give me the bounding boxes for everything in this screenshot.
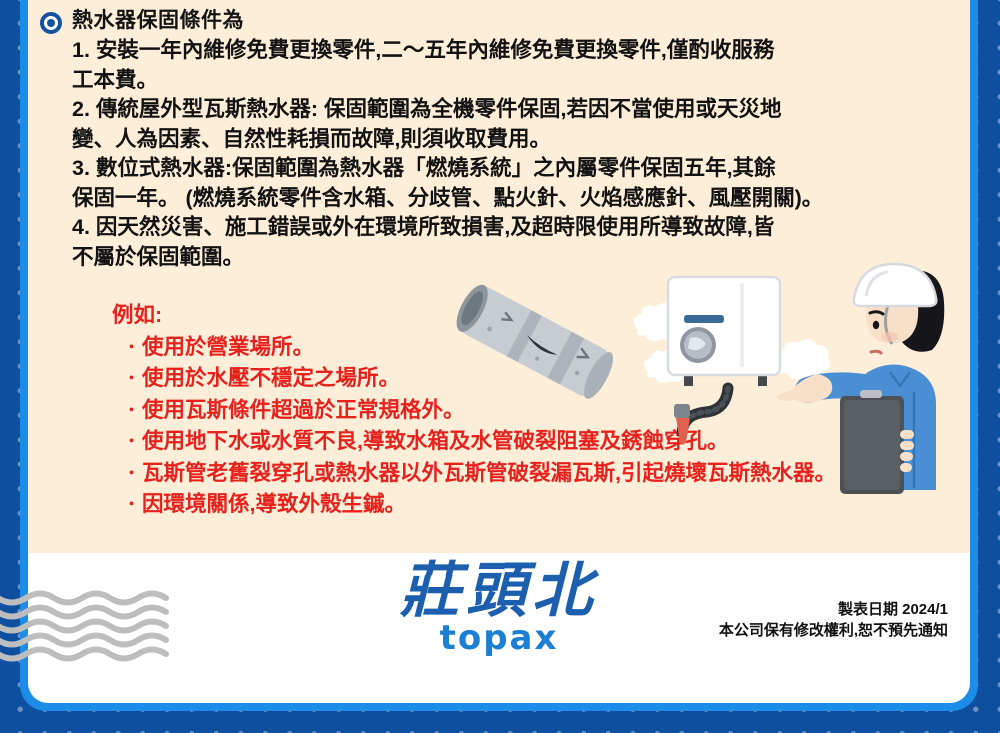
bullet-icon: ・ — [124, 339, 142, 356]
term-line: 2. 傳統屋外型瓦斯熱水器: 保固範圍為全機零件保固,若因不當使用或天災地 — [72, 95, 970, 125]
list-item: ・因環境關係,導致外殼生鏚。 — [112, 489, 970, 521]
bullseye-icon — [40, 12, 62, 34]
warranty-terms-list: 1. 安裝一年內維修免費更換零件,二～五年內維修免費更換零件,僅酌收服務 工本費… — [72, 36, 970, 272]
list-item: ・使用瓦斯條件超過於正常規格外。 — [112, 395, 970, 427]
revision-notice: 製表日期 2024/1 本公司保有修改權利,恕不預先通知 — [719, 599, 948, 641]
list-item: ・瓦斯管老舊裂穿孔或熱水器以外瓦斯管破裂漏瓦斯,引起燒壞瓦斯熱水器。 — [112, 458, 970, 490]
term-line: 不屬於保固範圍。 — [72, 243, 970, 273]
bullet-icon: ・ — [124, 402, 142, 419]
term-line: 4. 因天然災害、施工錯誤或外在環境所致損害,及超時限使用所導致故障,皆 — [72, 213, 970, 243]
content-card: 熱水器保固條件為 1. 安裝一年內維修免費更換零件,二～五年內維修免費更換零件,… — [28, 0, 970, 703]
list-item-label: 因環境關係,導致外殼生鏚。 — [142, 492, 406, 516]
term-line: 變、人為因素、自然性耗損而故障,則須收取費用。 — [72, 125, 970, 155]
brand-logo: 莊頭北 topax — [400, 561, 598, 658]
term-line: 1. 安裝一年內維修免費更換零件,二～五年內維修免費更換零件,僅酌收服務 — [72, 36, 970, 66]
notice-date: 製表日期 2024/1 — [719, 599, 948, 620]
term-line: 工本費。 — [72, 66, 970, 96]
brand-logo-chinese: 莊頭北 — [400, 561, 598, 622]
list-item-label: 使用地下水或水質不良,導致水箱及水管破裂阻塞及銹蝕穿孔。 — [142, 429, 728, 453]
list-item: ・使用於營業場所。 — [112, 332, 970, 364]
term-line: 3. 數位式熱水器:保固範圍為熱水器「燃燒系統」之內屬零件保固五年,其餘 — [72, 154, 970, 184]
terms-content: 熱水器保固條件為 1. 安裝一年內維修免費更換零件,二～五年內維修免費更換零件,… — [28, 0, 970, 553]
footer: 莊頭北 topax 製表日期 2024/1 本公司保有修改權利,恕不預先通知 — [28, 553, 970, 703]
list-item: ・使用地下水或水質不良,導致水箱及水管破裂阻塞及銹蝕穿孔。 — [112, 426, 970, 458]
bullet-icon: ・ — [124, 370, 142, 387]
brand-logo-english: topax — [400, 618, 598, 658]
header-row: 熱水器保固條件為 — [40, 8, 244, 34]
bullet-icon: ・ — [124, 496, 142, 513]
notice-disclaimer: 本公司保有修改權利,恕不預先通知 — [719, 620, 948, 641]
bullet-icon: ・ — [124, 465, 142, 482]
examples-title: 例如: — [112, 300, 970, 331]
examples-list: 例如: ・使用於營業場所。 ・使用於水壓不穩定之場所。 ・使用瓦斯條件超過於正常… — [112, 300, 970, 521]
list-item-label: 瓦斯管老舊裂穿孔或熱水器以外瓦斯管破裂漏瓦斯,引起燒壞瓦斯熱水器。 — [142, 461, 836, 485]
list-item-label: 使用於水壓不穩定之場所。 — [142, 366, 400, 390]
list-item: ・使用於水壓不穩定之場所。 — [112, 363, 970, 395]
term-line: 保固一年。 (燃燒系統零件含水箱、分歧管、點火針、火焰感應針、風壓開關)。 — [72, 184, 970, 214]
list-item-label: 使用瓦斯條件超過於正常規格外。 — [142, 398, 465, 422]
bullet-icon: ・ — [124, 433, 142, 450]
list-item-label: 使用於營業場所。 — [142, 335, 314, 359]
page-title: 熱水器保固條件為 — [72, 8, 244, 34]
